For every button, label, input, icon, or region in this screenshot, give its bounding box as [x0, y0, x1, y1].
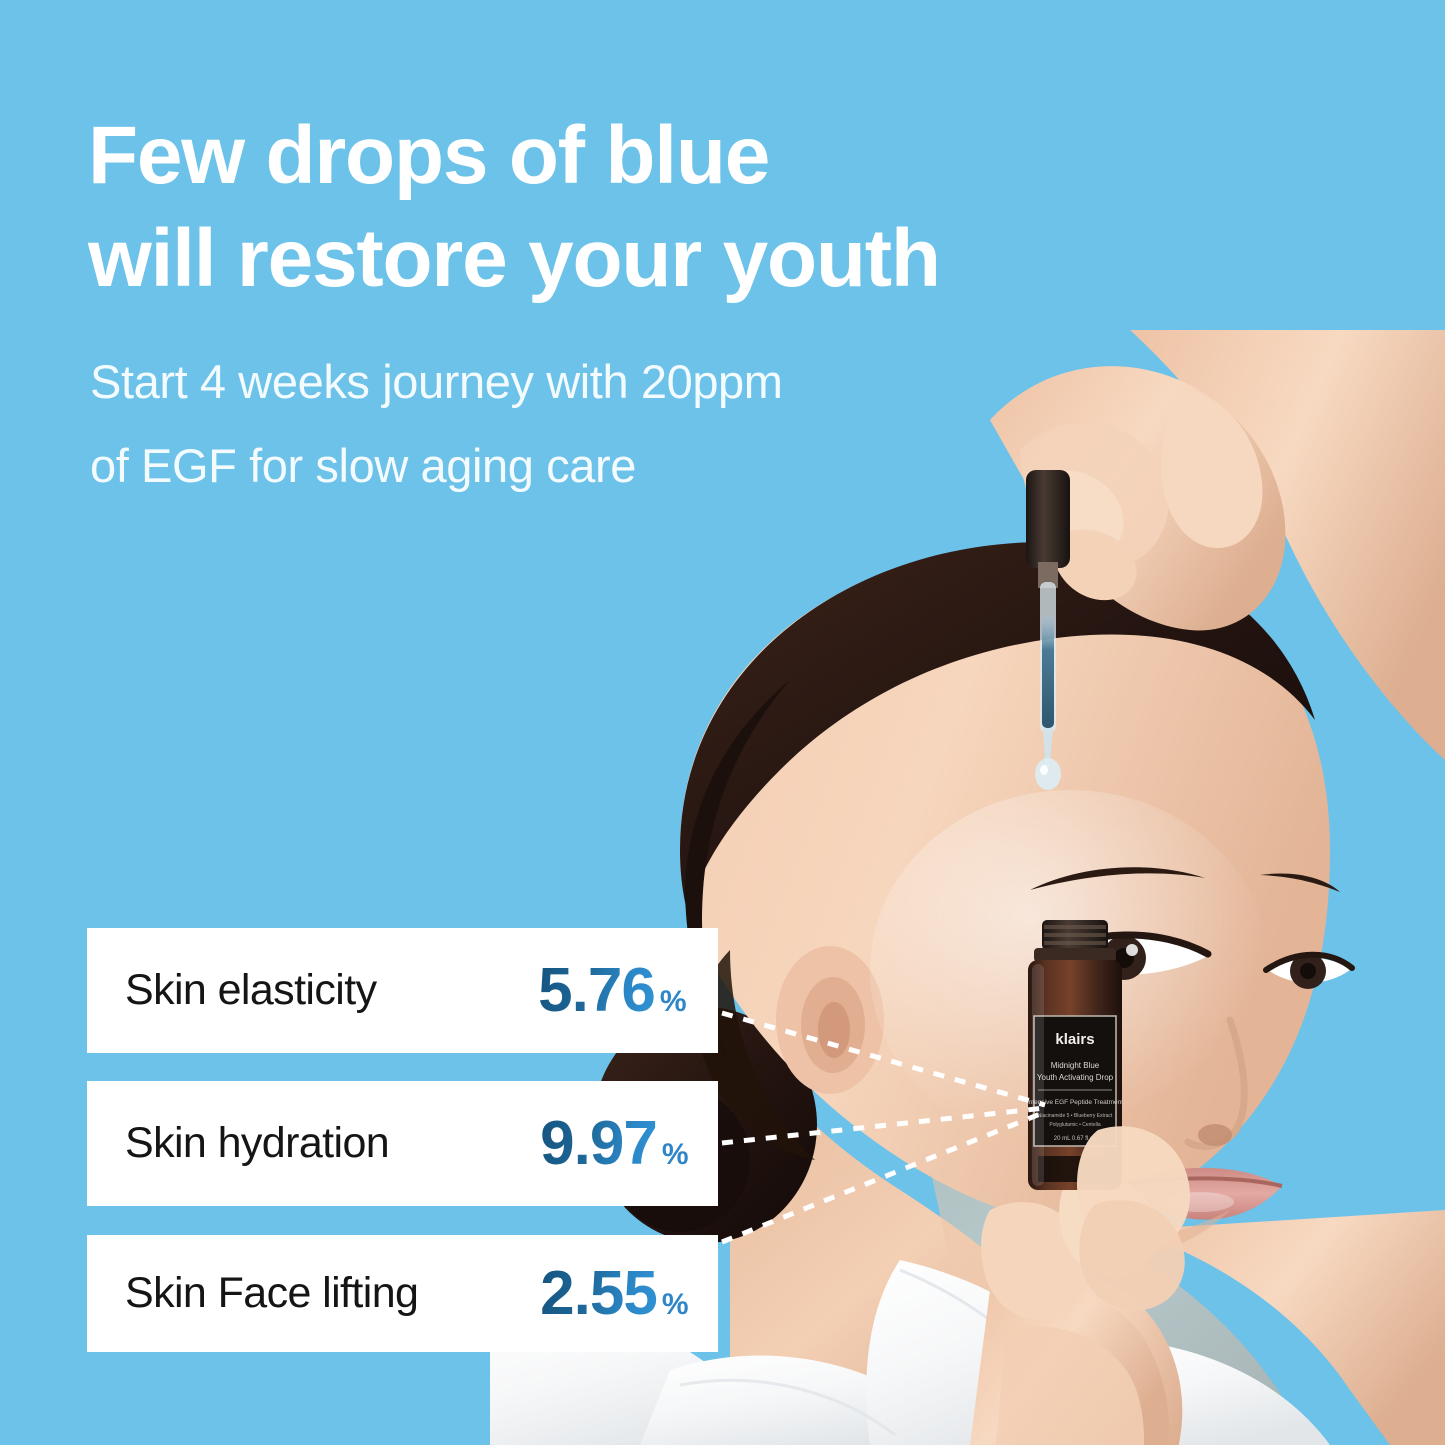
stat-label: Skin Face lifting [125, 1269, 418, 1318]
stat-value-group: 2.55 % [540, 1258, 692, 1329]
stat-value-group: 5.76 % [538, 955, 692, 1026]
headline: Few drops of blue will restore your yout… [88, 104, 1108, 311]
stat-value-group: 9.97 % [540, 1108, 692, 1179]
bottle-ingredients-2: Polyglutamic • Centella [1049, 1122, 1100, 1128]
stat-card-skin-hydration: Skin hydration 9.97 % [87, 1081, 718, 1206]
stat-card-skin-face-lifting: Skin Face lifting 2.55 % [87, 1235, 718, 1352]
stat-card-skin-elasticity: Skin elasticity 5.76 % [87, 928, 718, 1053]
promo-banner: klairs Midnight Blue Youth Activating Dr… [0, 0, 1445, 1445]
stat-label: Skin elasticity [125, 966, 376, 1015]
stat-value: 2.55 [540, 1258, 657, 1329]
subheadline: Start 4 weeks journey with 20ppm of EGF … [90, 340, 1020, 507]
stat-value: 9.97 [540, 1108, 657, 1179]
bottle-brand: klairs [1055, 1031, 1094, 1048]
bottle-name-line-1: Midnight Blue [1051, 1061, 1100, 1070]
stat-value: 5.76 [538, 955, 655, 1026]
bottle-name-line-2: Youth Activating Drop [1037, 1073, 1114, 1082]
stat-label: Skin hydration [125, 1119, 389, 1168]
bottle-ingredients-1: Niacinamide 5 • Blueberry Extract [1038, 1113, 1113, 1119]
stat-unit: % [662, 1288, 688, 1322]
stat-unit: % [660, 985, 686, 1019]
stat-unit: % [662, 1138, 688, 1172]
